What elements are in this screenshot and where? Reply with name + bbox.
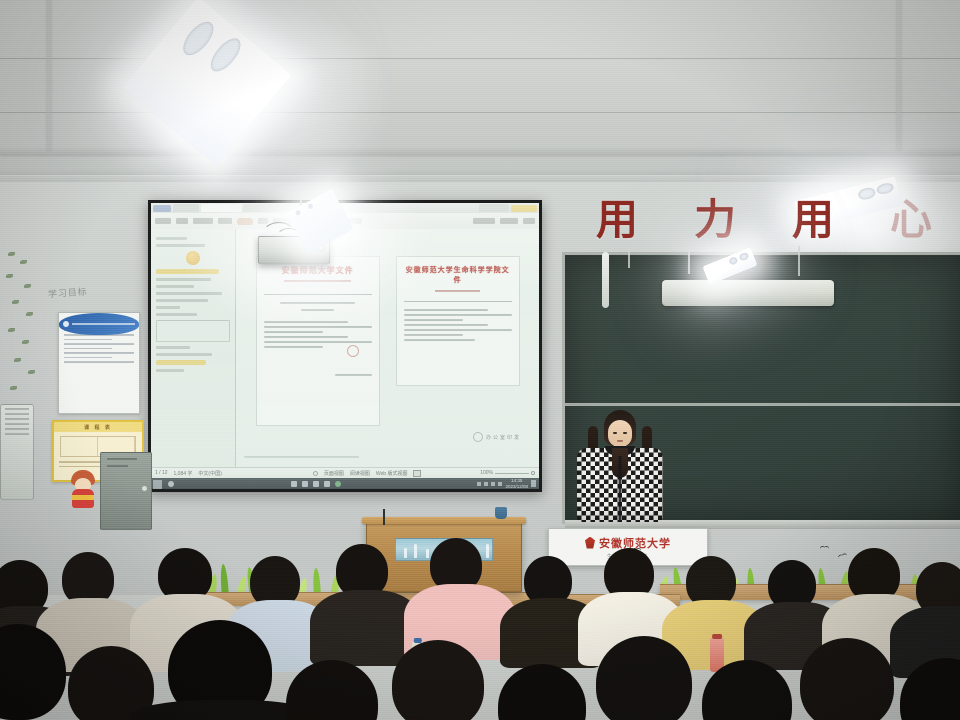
- spellcheck-icon[interactable]: [313, 471, 318, 476]
- app-logo-icon: [153, 205, 171, 212]
- layout-toggle-icon[interactable]: [413, 470, 421, 477]
- taskbar-icon-browser[interactable]: [302, 481, 308, 487]
- zoom-slider-handle[interactable]: [531, 471, 535, 475]
- view-button-web[interactable]: Web 版式视图: [376, 470, 408, 477]
- university-logo-icon: [585, 537, 595, 549]
- poster-blue: [58, 312, 140, 414]
- document-title-left: 安徽师范大学文件: [264, 265, 372, 276]
- slogan-char-4: 心: [890, 186, 932, 247]
- view-button-page[interactable]: 页面视图: [324, 470, 344, 477]
- clock-date: 2023/12/08: [505, 484, 528, 489]
- taskbar-icon-mail[interactable]: [313, 481, 319, 487]
- wall-slogan: 用 力 用 心: [596, 186, 932, 247]
- document-seal-icon: [347, 345, 359, 357]
- vine-decal: [4, 248, 44, 408]
- taskbar-clock[interactable]: 14:35 2023/12/08: [505, 478, 528, 488]
- thumbnail-seal-icon: [186, 251, 200, 265]
- status-page-info: 1 / 12: [155, 470, 168, 476]
- student-head: [596, 636, 692, 720]
- watermark-text: 办公室印发: [486, 434, 521, 441]
- projection-screen: 雷泉 安徽师范大学文件: [148, 200, 542, 492]
- document-title-right: 安徽师范大学生命科学学院文件: [404, 265, 512, 285]
- document-preview-left[interactable]: 安徽师范大学文件: [256, 256, 380, 426]
- student-head: [392, 640, 484, 720]
- zoom-slider[interactable]: 100%: [480, 470, 535, 476]
- document-thumbnail-pane[interactable]: [151, 229, 236, 467]
- taskbar-icon-media[interactable]: [324, 481, 330, 487]
- poster-logo-icon: [63, 321, 69, 327]
- cabinet-knob-icon[interactable]: [142, 486, 147, 491]
- student-head: [498, 664, 586, 720]
- cartoon-decal: [70, 470, 96, 508]
- tray-icon-battery[interactable]: [491, 482, 495, 486]
- slide-watermark: 办公室印发: [244, 432, 521, 442]
- blackboard-side-lamp: [602, 252, 609, 308]
- document-preview-right[interactable]: 安徽师范大学生命科学学院文件: [396, 256, 520, 386]
- system-tray[interactable]: 14:35 2023/12/08: [477, 478, 536, 488]
- watermark-ring-icon: [473, 432, 483, 442]
- view-button-read[interactable]: 阅读视图: [350, 470, 370, 477]
- tray-icon-network[interactable]: [477, 482, 481, 486]
- cup[interactable]: [495, 507, 507, 519]
- start-button[interactable]: [153, 480, 162, 489]
- slide-canvas: 雷泉 安徽师范大学文件: [236, 229, 539, 467]
- ceiling-beam: [896, 0, 902, 150]
- presenter-face: [608, 420, 632, 447]
- student-head: [800, 638, 894, 720]
- whiteboard-scribble: 学 习 目 标: [48, 285, 86, 301]
- app-titlebar: [151, 203, 539, 213]
- show-desktop-button[interactable]: [531, 480, 536, 487]
- ceiling-beam: [0, 148, 960, 155]
- wall-cabinet: [100, 452, 152, 530]
- zoom-level: 100%: [480, 470, 493, 476]
- presenter: [560, 410, 680, 526]
- tray-icon-volume[interactable]: [484, 482, 488, 486]
- ceiling-beam: [46, 0, 52, 150]
- tray-icon-ime[interactable]: [498, 482, 502, 486]
- slogan-char-3: 用: [792, 186, 834, 247]
- poster-yellow-title: 课 程 表: [84, 424, 112, 431]
- classroom-scene: 用 力 用 心: [0, 0, 960, 720]
- windows-taskbar[interactable]: 14:35 2023/12/08: [151, 478, 539, 489]
- slogan-char-2: 力: [694, 186, 736, 247]
- air-conditioner: [0, 404, 34, 500]
- status-word-count: 1,084 字: [174, 470, 193, 477]
- bird-decal: [820, 546, 829, 550]
- status-language: 中文(中国): [198, 470, 221, 477]
- blackboard-lamp: [662, 280, 834, 306]
- ribbon-highlight-button[interactable]: [237, 218, 253, 225]
- app-status-bar: 1 / 12 1,084 字 中文(中国) 页面视图 阅读视图 Web 版式视图…: [151, 467, 539, 478]
- microphone: [383, 509, 385, 525]
- taskbar-icon-file-explorer[interactable]: [291, 481, 297, 487]
- taskbar-icon-wechat[interactable]: [335, 481, 341, 487]
- slogan-char-1: 用: [596, 186, 638, 247]
- search-icon[interactable]: [168, 481, 174, 487]
